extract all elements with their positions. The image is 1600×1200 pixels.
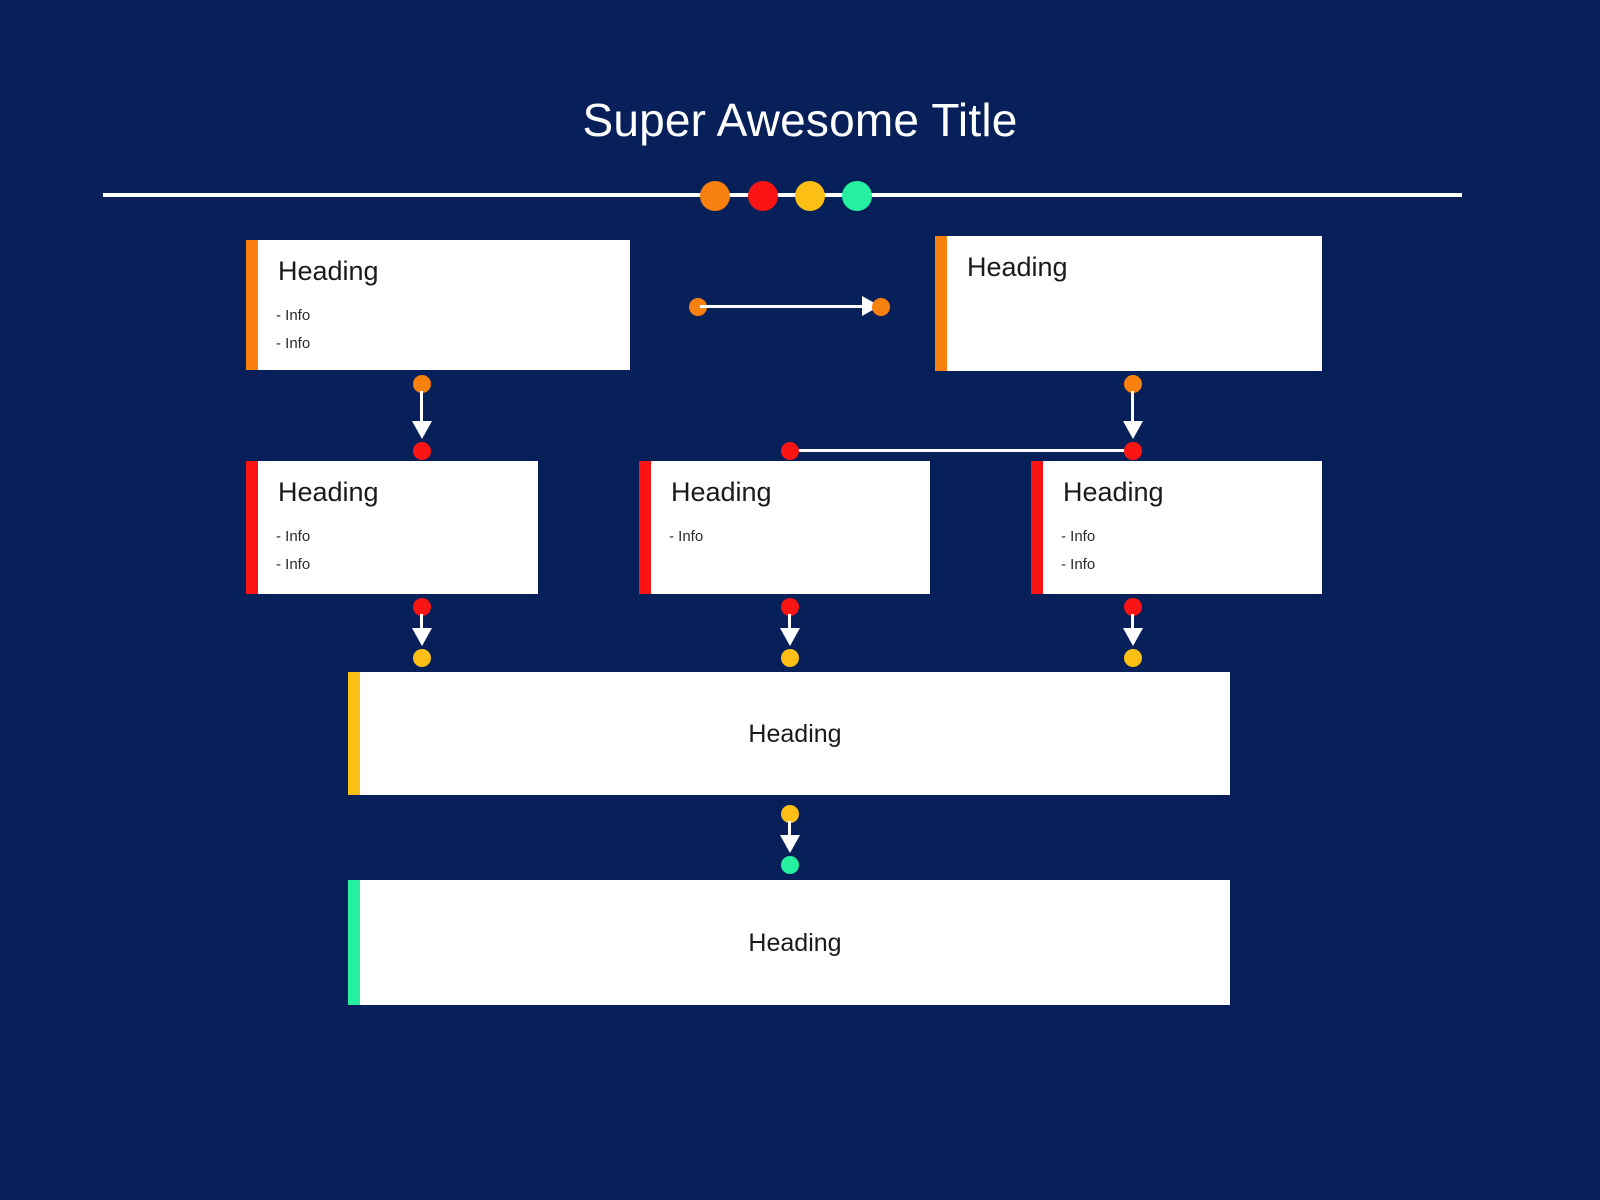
card-7[interactable]: Heading xyxy=(348,880,1230,1005)
connector-dot-green-c6c7-end xyxy=(781,856,799,874)
card-1-info-list: - Info - Info xyxy=(276,302,310,358)
card-3-info-item: - Info xyxy=(276,523,310,551)
card-1-accent-bar xyxy=(246,240,258,370)
connector-arrowhead-c1-to-c3 xyxy=(412,421,432,439)
legend-dot-red xyxy=(748,181,778,211)
card-3-info-item: - Info xyxy=(276,551,310,579)
card-3[interactable]: Heading - Info - Info xyxy=(246,461,538,594)
card-3-accent-bar xyxy=(246,461,258,594)
card-1-info-item: - Info xyxy=(276,302,310,330)
card-1[interactable]: Heading - Info - Info xyxy=(246,240,630,370)
legend-dot-yellow xyxy=(795,181,825,211)
connector-dot-yellow-c5c6-end xyxy=(1124,649,1142,667)
card-3-heading: Heading xyxy=(278,475,379,509)
connector-dot-red-c4c5-start xyxy=(781,442,799,460)
connector-line-c1-to-c2 xyxy=(700,305,866,308)
diagram-canvas: Super Awesome Title Heading - xyxy=(0,0,1600,1200)
connector-arrowhead-c2-to-c5 xyxy=(1123,421,1143,439)
connector-dot-red-c4c5-end xyxy=(1124,442,1142,460)
card-1-heading: Heading xyxy=(278,254,379,288)
connector-arrowhead-c4-to-c6 xyxy=(780,628,800,646)
card-2-heading: Heading xyxy=(967,250,1068,284)
card-4-accent-bar xyxy=(639,461,651,594)
page-title: Super Awesome Title xyxy=(0,92,1600,148)
legend-dot-orange xyxy=(700,181,730,211)
connector-line-c2-to-c5 xyxy=(1131,391,1134,425)
card-3-info-list: - Info - Info xyxy=(276,523,310,579)
card-4-info-item: - Info xyxy=(669,523,703,551)
card-5[interactable]: Heading - Info - Info xyxy=(1031,461,1322,594)
card-7-accent-bar xyxy=(348,880,360,1005)
connector-arrowhead-c3-to-c6 xyxy=(412,628,432,646)
card-6-heading: Heading xyxy=(360,718,1230,750)
card-6-accent-bar xyxy=(348,672,360,795)
card-6[interactable]: Heading xyxy=(348,672,1230,795)
card-2[interactable]: Heading xyxy=(935,236,1322,371)
connector-dot-yellow-c4c6-end xyxy=(781,649,799,667)
legend-dot-green xyxy=(842,181,872,211)
card-4-info-list: - Info xyxy=(669,523,703,551)
card-2-accent-bar xyxy=(935,236,947,371)
card-4-heading: Heading xyxy=(671,475,772,509)
card-7-heading: Heading xyxy=(360,927,1230,959)
connector-dot-red-c1c3-end xyxy=(413,442,431,460)
card-1-info-item: - Info xyxy=(276,330,310,358)
connector-line-c1-to-c3 xyxy=(420,391,423,425)
card-4[interactable]: Heading - Info xyxy=(639,461,930,594)
card-5-accent-bar xyxy=(1031,461,1043,594)
card-5-info-item: - Info xyxy=(1061,551,1095,579)
connector-dot-orange-c1c2-end xyxy=(872,298,890,316)
connector-line-c4-to-c5 xyxy=(790,449,1133,452)
card-5-info-list: - Info - Info xyxy=(1061,523,1095,579)
connector-dot-yellow-c3c6-end xyxy=(413,649,431,667)
card-5-info-item: - Info xyxy=(1061,523,1095,551)
card-5-heading: Heading xyxy=(1063,475,1164,509)
connector-arrowhead-c5-to-c6 xyxy=(1123,628,1143,646)
header-divider xyxy=(103,193,1462,197)
connector-arrowhead-c6-to-c7 xyxy=(780,835,800,853)
